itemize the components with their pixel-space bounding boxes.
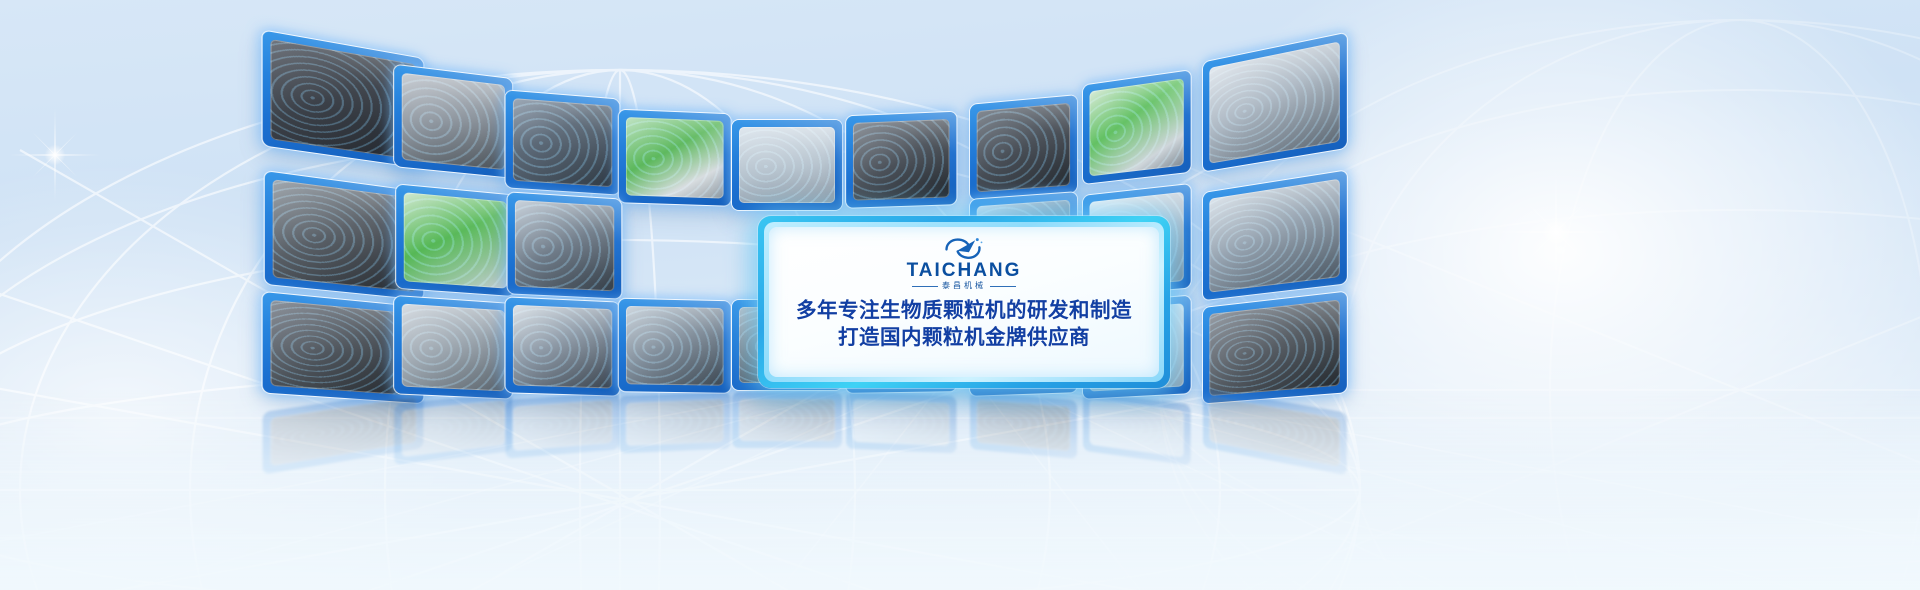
wall-tile[interactable] — [394, 65, 512, 178]
panel-content: TAICHANG 泰昌机械 多年专注生物质颗粒机的研发和制造 打造国内颗粒机金牌… — [769, 227, 1159, 377]
wall-tile[interactable] — [619, 299, 731, 393]
brand-wordmark: TAICHANG — [907, 261, 1022, 280]
wall-tile-photo — [739, 127, 835, 203]
wall-tile-photo — [513, 399, 612, 451]
wall-tile[interactable] — [396, 184, 514, 296]
wall-tile-reflection — [619, 392, 731, 453]
wall-tile-photo — [1209, 41, 1339, 163]
wall-tile[interactable] — [1083, 70, 1191, 184]
wall-tile-photo — [1090, 399, 1184, 457]
wall-tile-photo — [1209, 300, 1339, 397]
wall-tile[interactable] — [508, 192, 622, 298]
taichang-swoosh-logo-mark — [943, 236, 985, 260]
brand-chinese-name: 泰昌机械 — [942, 282, 986, 290]
wall-tile-photo — [739, 399, 835, 441]
wall-tile-photo — [977, 399, 1070, 451]
slogan-line-1: 多年专注生物质颗粒机的研发和制造 — [796, 297, 1132, 324]
wall-tile-photo — [626, 117, 724, 199]
wall-tile-reflection — [970, 392, 1077, 459]
wall-tile-photo — [626, 306, 724, 386]
wall-tile[interactable] — [506, 90, 620, 194]
brand-chinese-name-row: 泰昌机械 — [912, 282, 1016, 290]
wall-tile-photo — [853, 119, 950, 201]
wall-tile[interactable] — [1203, 33, 1347, 172]
wall-tile[interactable] — [506, 297, 620, 395]
logo-rule-right — [990, 286, 1016, 287]
wall-tile[interactable] — [619, 110, 731, 206]
wall-tile-photo — [404, 192, 507, 288]
wall-tile-photo — [626, 399, 724, 446]
wall-tile-photo — [402, 400, 505, 458]
wall-tile-photo — [402, 73, 505, 170]
wall-tile-reflection — [394, 392, 512, 465]
wall-tile[interactable] — [394, 296, 512, 399]
center-slogan-panel: TAICHANG 泰昌机械 多年专注生物质颗粒机的研发和制造 打造国内颗粒机金牌… — [758, 216, 1170, 388]
wall-tile[interactable] — [1203, 170, 1347, 300]
wall-tile-reflection — [846, 392, 956, 454]
wall-tile-reflection — [732, 392, 842, 448]
wall-tile-reflection — [506, 392, 620, 459]
slogan-block: 多年专注生物质颗粒机的研发和制造 打造国内颗粒机金牌供应商 — [796, 297, 1132, 352]
wall-tile-photo — [977, 103, 1070, 193]
wall-tile-photo — [273, 179, 417, 292]
wall-tile-photo — [513, 305, 612, 389]
wall-tile[interactable] — [846, 112, 956, 208]
slogan-line-2: 打造国内颗粒机金牌供应商 — [796, 324, 1132, 351]
wall-tile-photo — [1209, 396, 1339, 467]
wall-tile-photo — [1209, 179, 1339, 293]
wall-tile[interactable] — [732, 120, 842, 210]
wall-tile[interactable] — [1203, 292, 1347, 404]
wall-tile-photo — [402, 304, 505, 392]
wall-tile-photo — [1090, 78, 1184, 176]
hero-banner: TAICHANG 泰昌机械 多年专注生物质颗粒机的研发和制造 打造国内颗粒机金牌… — [0, 0, 1920, 590]
wall-tile[interactable] — [970, 95, 1077, 200]
logo-rule-left — [912, 286, 938, 287]
wall-tile-reflection — [1083, 391, 1191, 465]
wall-tile-photo — [515, 200, 614, 291]
wall-tile-photo — [513, 98, 612, 187]
brand-logo: TAICHANG 泰昌机械 — [907, 236, 1022, 290]
wall-tile-reflection — [1203, 388, 1347, 475]
wall-tile-photo — [853, 399, 950, 446]
